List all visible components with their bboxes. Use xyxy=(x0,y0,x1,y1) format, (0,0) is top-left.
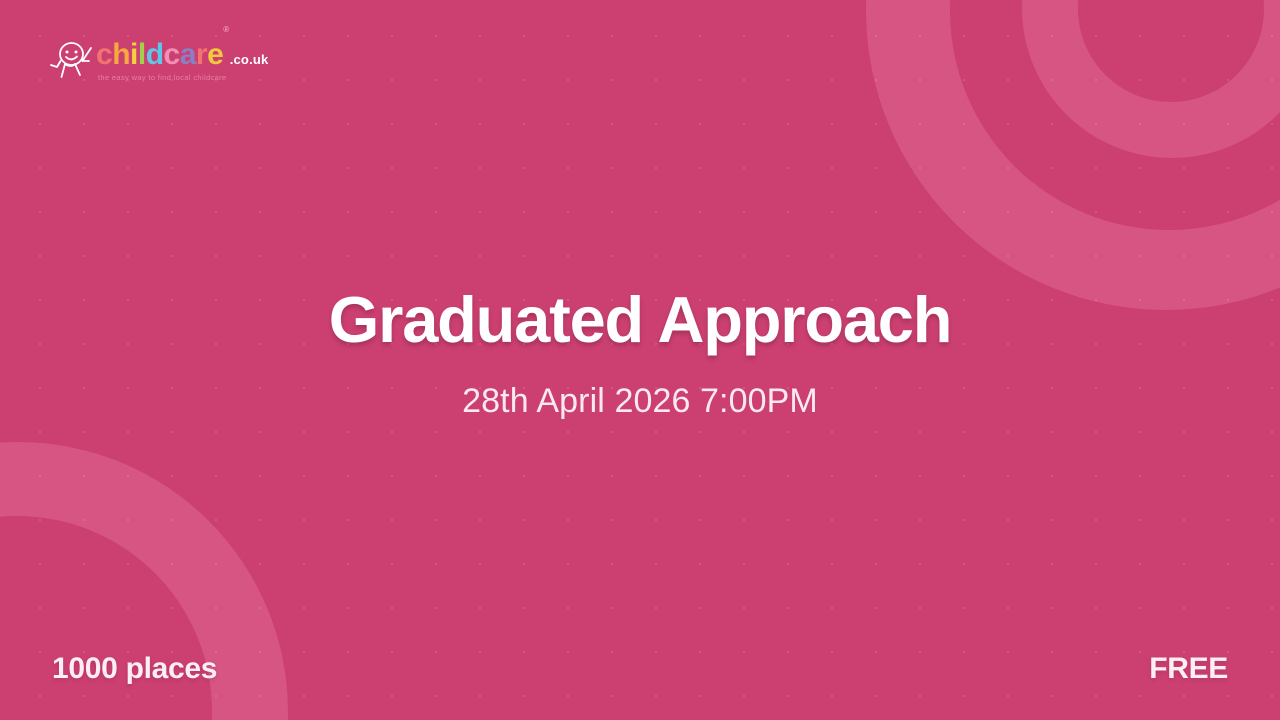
logo-letter-3: l xyxy=(138,40,146,70)
event-datetime: 28th April 2026 7:00PM xyxy=(0,383,1280,420)
registered-trademark-icon: ® xyxy=(223,26,228,34)
event-headline-block: Graduated Approach 28th April 2026 7:00P… xyxy=(0,286,1280,420)
event-title: Graduated Approach xyxy=(0,286,1280,355)
logo-letter-2: i xyxy=(130,40,138,70)
logo-domain-suffix: .co.uk xyxy=(230,53,269,66)
logo-letter-8: e xyxy=(207,40,223,70)
logo-wordmark: childcare®.co.uk xyxy=(96,40,268,70)
smiling-stick-figure-icon xyxy=(48,41,94,86)
price-badge: FREE xyxy=(1149,652,1228,686)
logo-letter-0: c xyxy=(96,40,112,70)
logo-letter-6: a xyxy=(180,40,196,70)
logo-tagline: the easy way to find local childcare xyxy=(98,73,268,82)
logo-letter-1: h xyxy=(112,40,130,70)
logo-letter-5: c xyxy=(164,40,180,70)
logo-letter-7: r xyxy=(196,40,207,70)
capacity-badge: 1000 places xyxy=(52,652,217,686)
logo-letter-4: d xyxy=(146,40,164,70)
brand-logo[interactable]: childcare®.co.uk the easy way to find lo… xyxy=(48,40,268,86)
webinar-promo-slide: childcare®.co.uk the easy way to find lo… xyxy=(0,0,1280,720)
